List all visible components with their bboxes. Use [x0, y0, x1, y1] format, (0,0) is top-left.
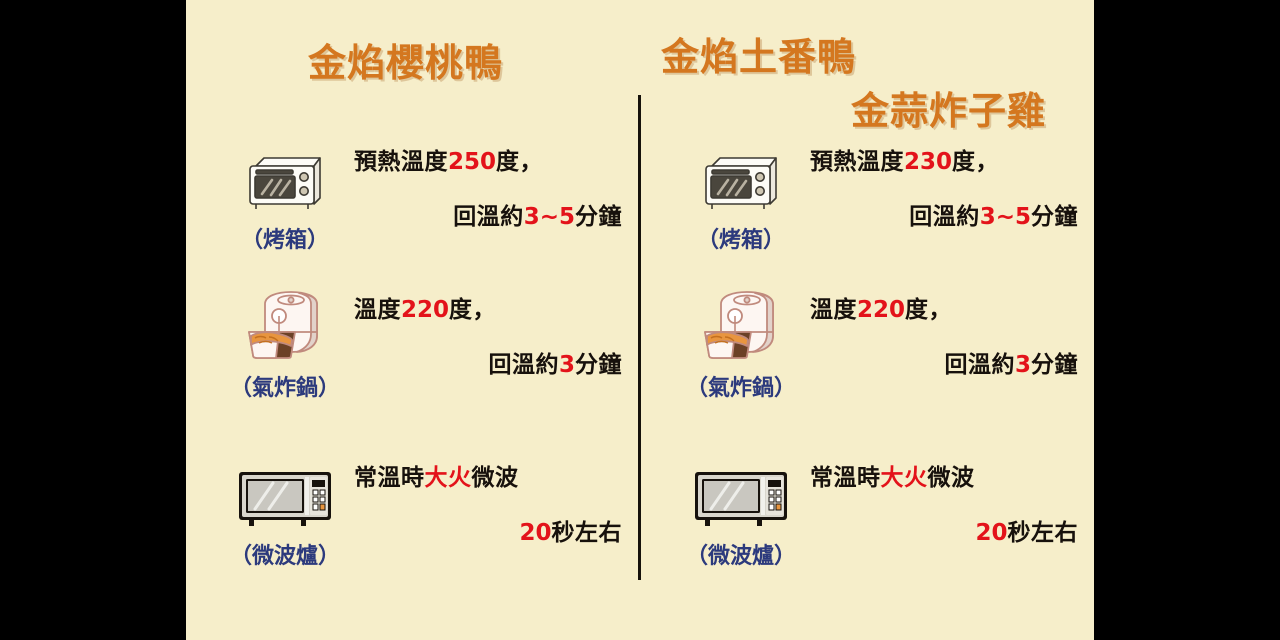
- highlight-value: 220: [857, 297, 905, 323]
- appliance-label: （氣炸鍋）: [656, 370, 826, 402]
- instruction-line-1: 預熱溫度250度，: [354, 148, 638, 177]
- instruction-line-1: 預熱溫度230度，: [810, 148, 1094, 177]
- instruction-line-1: 溫度220度，: [354, 296, 638, 325]
- toaster-oven-icon: [200, 140, 370, 214]
- appliance-label: （烤箱）: [656, 222, 826, 254]
- instruction-row: （氣炸鍋） 溫度220度， 回溫約3分鐘: [186, 288, 638, 438]
- instruction-lines: 預熱溫度250度， 回溫約3~5分鐘: [354, 148, 638, 232]
- highlight-value: 大火: [425, 465, 472, 491]
- instruction-line-2: 20秒左右: [810, 519, 1094, 548]
- highlight-value: 220: [401, 297, 449, 323]
- instruction-line-1: 常溫時大火微波: [810, 464, 1094, 493]
- highlight-value: 230: [904, 149, 952, 175]
- appliance-label: （微波爐）: [656, 538, 826, 570]
- column-left: （烤箱） 預熱溫度250度， 回溫約3~5分鐘: [186, 0, 638, 640]
- instruction-row: （微波爐） 常溫時大火微波 20秒左右: [642, 456, 1094, 606]
- highlight-value: 大火: [881, 465, 928, 491]
- instruction-line-2: 回溫約3~5分鐘: [810, 203, 1094, 232]
- instruction-line-2: 20秒左右: [354, 519, 638, 548]
- microwave-icon: [656, 456, 826, 530]
- column-right: （烤箱） 預熱溫度230度， 回溫約3~5分鐘: [642, 0, 1094, 640]
- highlight-value: 3: [559, 352, 575, 378]
- instruction-line-1: 溫度220度，: [810, 296, 1094, 325]
- instruction-lines: 常溫時大火微波 20秒左右: [354, 464, 638, 548]
- microwave-icon: [200, 456, 370, 530]
- highlight-value: 20: [975, 520, 1007, 546]
- air-fryer-icon: [656, 288, 826, 362]
- highlight-value: 3: [1015, 352, 1031, 378]
- instruction-row: （烤箱） 預熱溫度230度， 回溫約3~5分鐘: [642, 140, 1094, 290]
- instruction-row: （氣炸鍋） 溫度220度， 回溫約3分鐘: [642, 288, 1094, 438]
- appliance-block: （烤箱）: [656, 140, 826, 254]
- instruction-line-2: 回溫約3分鐘: [354, 351, 638, 380]
- instruction-row: （微波爐） 常溫時大火微波 20秒左右: [186, 456, 638, 606]
- highlight-value: 3~5: [524, 204, 575, 230]
- instruction-line-2: 回溫約3分鐘: [810, 351, 1094, 380]
- air-fryer-icon: [200, 288, 370, 362]
- slide-content-area: 金焰櫻桃鴨 金焰土番鴨 金蒜炸子雞: [186, 0, 1094, 640]
- instruction-line-2: 回溫約3~5分鐘: [354, 203, 638, 232]
- highlight-value: 3~5: [980, 204, 1031, 230]
- toaster-oven-icon: [656, 140, 826, 214]
- instruction-lines: 常溫時大火微波 20秒左右: [810, 464, 1094, 548]
- appliance-label: （烤箱）: [200, 222, 370, 254]
- appliance-label: （微波爐）: [200, 538, 370, 570]
- instruction-lines: 預熱溫度230度， 回溫約3~5分鐘: [810, 148, 1094, 232]
- slide-stage: 金焰櫻桃鴨 金焰土番鴨 金蒜炸子雞: [0, 0, 1280, 640]
- appliance-block: （烤箱）: [200, 140, 370, 254]
- appliance-block: （微波爐）: [656, 456, 826, 570]
- instruction-lines: 溫度220度， 回溫約3分鐘: [810, 296, 1094, 380]
- appliance-block: （氣炸鍋）: [200, 288, 370, 402]
- instruction-lines: 溫度220度， 回溫約3分鐘: [354, 296, 638, 380]
- appliance-block: （微波爐）: [200, 456, 370, 570]
- highlight-value: 250: [448, 149, 496, 175]
- appliance-label: （氣炸鍋）: [200, 370, 370, 402]
- highlight-value: 20: [519, 520, 551, 546]
- appliance-block: （氣炸鍋）: [656, 288, 826, 402]
- instruction-line-1: 常溫時大火微波: [354, 464, 638, 493]
- instruction-row: （烤箱） 預熱溫度250度， 回溫約3~5分鐘: [186, 140, 638, 290]
- column-divider: [638, 95, 641, 580]
